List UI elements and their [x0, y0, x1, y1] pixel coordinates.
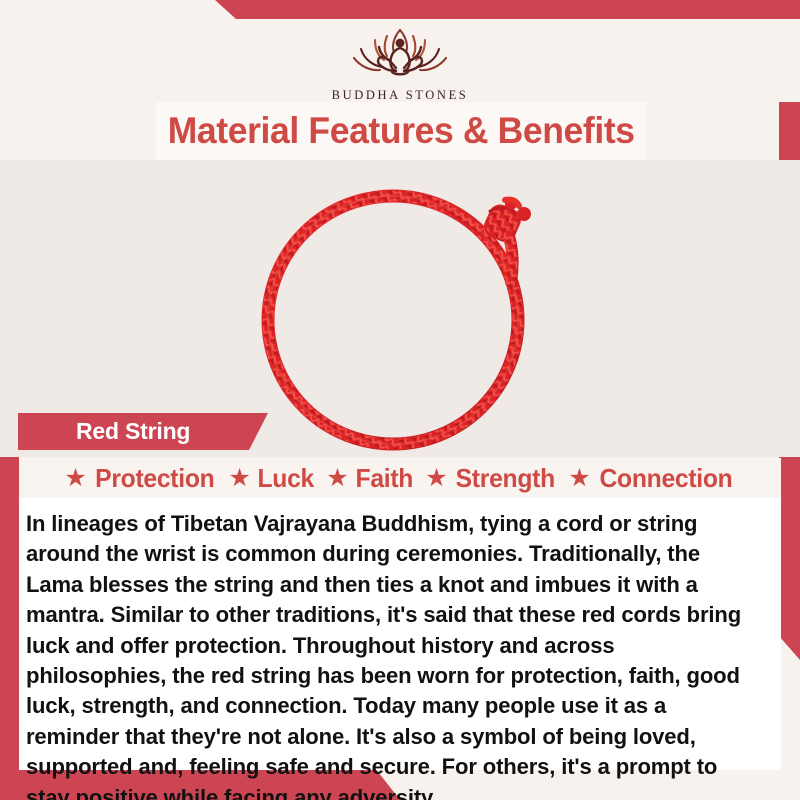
- description-panel: In lineages of Tibetan Vajrayana Buddhis…: [19, 498, 781, 770]
- product-image-stage: [0, 160, 800, 457]
- benefit-item-strength: ★ Strength: [425, 463, 557, 494]
- product-label-banner: Red String: [18, 413, 268, 450]
- benefit-label: Protection: [95, 463, 214, 494]
- lotus-meditation-icon: [330, 20, 470, 87]
- benefit-label: Faith: [355, 463, 413, 494]
- red-string-bracelet-image: [243, 178, 563, 453]
- star-icon: ★: [568, 466, 590, 491]
- star-icon: ★: [326, 466, 348, 491]
- star-icon: ★: [64, 466, 86, 491]
- product-label: Red String: [76, 418, 190, 445]
- benefit-label: Connection: [599, 463, 732, 494]
- benefits-row: ★ Protection ★ Luck ★ Faith ★ Strength ★…: [19, 458, 781, 498]
- star-icon: ★: [228, 466, 250, 491]
- decor-bar-top: [0, 0, 800, 19]
- material-features-poster: BUDDHA STONES Material Features & Benefi…: [0, 0, 800, 800]
- brand-name: BUDDHA STONES: [332, 88, 469, 103]
- page-title: Material Features & Benefits: [168, 110, 635, 152]
- benefit-item-protection: ★ Protection: [64, 463, 217, 494]
- page-title-band: Material Features & Benefits: [156, 102, 646, 160]
- brand-header: BUDDHA STONES: [0, 19, 800, 102]
- star-icon: ★: [425, 466, 447, 491]
- description-text: In lineages of Tibetan Vajrayana Buddhis…: [26, 509, 756, 800]
- benefit-item-faith: ★ Faith: [326, 463, 414, 494]
- benefit-item-luck: ★ Luck: [228, 463, 315, 494]
- benefit-label: Luck: [257, 463, 314, 494]
- benefit-label: Strength: [455, 463, 554, 494]
- benefit-item-connection: ★ Connection: [568, 463, 735, 494]
